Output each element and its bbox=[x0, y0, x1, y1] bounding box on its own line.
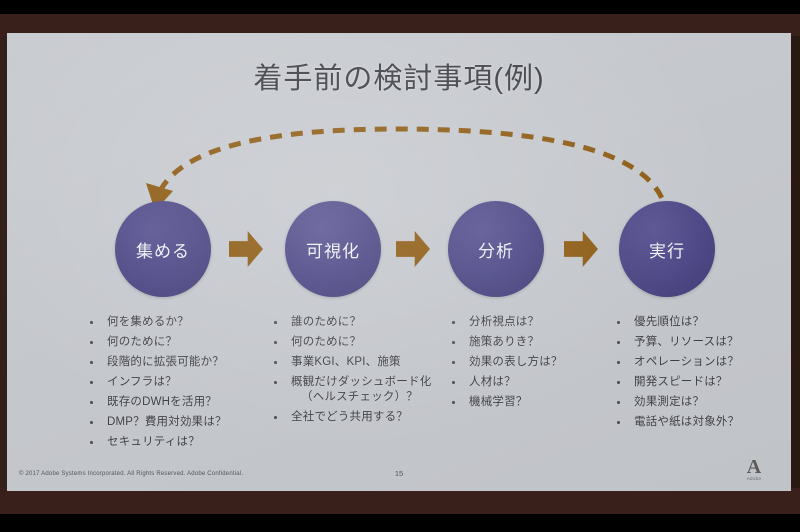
list-item: 何を集めるか？ bbox=[85, 315, 275, 330]
bullet-text: オペレーションは？ bbox=[634, 356, 739, 368]
stage-row: 集める 可視化 分析 実行 bbox=[7, 201, 791, 301]
list-item: 分析視点は？ bbox=[447, 315, 617, 330]
list-item: 全社でどう共用する？ bbox=[269, 410, 451, 425]
stage-circle-analyze[interactable]: 分析 bbox=[448, 201, 544, 297]
adobe-a-mark: A bbox=[741, 459, 767, 476]
list-item: 人材は？ bbox=[447, 375, 617, 390]
stage-label: 分析 bbox=[478, 237, 514, 262]
list-item: 機械学習？ bbox=[447, 395, 617, 410]
screen-frame-left bbox=[0, 14, 7, 514]
list-item: 開発スピードは？ bbox=[612, 375, 790, 390]
stage-circle-collect[interactable]: 集める bbox=[115, 201, 211, 297]
bullet-text: 効果の表し方は？ bbox=[469, 356, 563, 368]
list-item: 段階的に拡張可能か？ bbox=[85, 355, 275, 370]
bullet-text-continuation: （ヘルスチェック）？ bbox=[291, 390, 451, 405]
list-item: インフラは？ bbox=[85, 375, 275, 390]
bullet-text: 何を集めるか？ bbox=[107, 316, 189, 328]
list-item: 事業KGI、KPI、施策 bbox=[269, 355, 451, 370]
list-item: 効果の表し方は？ bbox=[447, 355, 617, 370]
list-item: 誰のために？ bbox=[269, 315, 451, 330]
bullet-text: 開発スピードは？ bbox=[634, 376, 728, 388]
stage-arrow-3 bbox=[564, 231, 598, 267]
list-item: オペレーションは？ bbox=[612, 355, 790, 370]
bullet-column-analyze: 分析視点は？ 施策ありき？ 効果の表し方は？ 人材は？ 機械学習？ bbox=[447, 315, 617, 415]
list-item: 効果測定は？ bbox=[612, 395, 790, 410]
bullet-text: 既存のDWHを活用？ bbox=[107, 396, 217, 408]
bullet-text: 人材は？ bbox=[469, 376, 516, 388]
bullet-text: インフラは？ bbox=[107, 376, 177, 388]
bullet-text: 何のために？ bbox=[291, 336, 361, 348]
adobe-wordmark: Adobe bbox=[741, 476, 767, 481]
bullet-text: 事業KGI、KPI、施策 bbox=[291, 356, 401, 368]
projected-slide-photo: 着手前の検討事項(例) 集める 可視化 分析 実行 何を集め bbox=[0, 0, 800, 532]
bullet-text: 予算、リソースは？ bbox=[634, 336, 739, 348]
list-item: 既存のDWHを活用？ bbox=[85, 395, 275, 410]
stage-arrow-1 bbox=[229, 231, 263, 267]
list-item: 予算、リソースは？ bbox=[612, 335, 790, 350]
adobe-logo: A Adobe bbox=[741, 459, 767, 481]
stage-circle-visualize[interactable]: 可視化 bbox=[285, 201, 381, 297]
slide-canvas: 着手前の検討事項(例) 集める 可視化 分析 実行 何を集め bbox=[7, 33, 791, 491]
list-item: DMP？費用対効果は？ bbox=[85, 415, 275, 430]
stage-arrow-2 bbox=[396, 231, 430, 267]
bullet-text: 段階的に拡張可能か？ bbox=[107, 356, 224, 368]
bullet-text: 全社でどう共用する？ bbox=[291, 411, 408, 423]
bullet-text: 効果測定は？ bbox=[634, 396, 704, 408]
bullet-text: 分析視点は？ bbox=[469, 316, 539, 328]
bullet-column-execute: 優先順位は？ 予算、リソースは？ オペレーションは？ 開発スピードは？ 効果測定… bbox=[612, 315, 790, 435]
bullet-text: 機械学習？ bbox=[469, 396, 528, 408]
bullet-text: セキュリティは？ bbox=[107, 436, 200, 448]
bullet-text: 何のために？ bbox=[107, 336, 177, 348]
list-item: 概観だけダッシュボード化 （ヘルスチェック）？ bbox=[269, 375, 451, 405]
bullet-text: 施策ありき？ bbox=[469, 336, 539, 348]
screen-frame-right bbox=[791, 14, 800, 514]
bullet-text: DMP？費用対効果は？ bbox=[107, 416, 227, 428]
list-item: セキュリティは？ bbox=[85, 435, 275, 450]
screen-frame-bottom bbox=[0, 488, 800, 514]
list-item: 何のために？ bbox=[269, 335, 451, 350]
bullet-columns: 何を集めるか？ 何のために？ 段階的に拡張可能か？ インフラは？ 既存のDWHを… bbox=[7, 315, 791, 455]
bullet-text: 電話や紙は対象外？ bbox=[634, 416, 739, 428]
list-item: 施策ありき？ bbox=[447, 335, 617, 350]
list-item: 何のために？ bbox=[85, 335, 275, 350]
stage-circle-execute[interactable]: 実行 bbox=[619, 201, 715, 297]
stage-label: 集める bbox=[136, 237, 190, 262]
bullet-column-collect: 何を集めるか？ 何のために？ 段階的に拡張可能か？ インフラは？ 既存のDWHを… bbox=[85, 315, 275, 455]
bullet-column-visualize: 誰のために？ 何のために？ 事業KGI、KPI、施策 概観だけダッシュボード化 … bbox=[269, 315, 451, 430]
list-item: 電話や紙は対象外？ bbox=[612, 415, 790, 430]
bullet-text: 概観だけダッシュボード化 bbox=[291, 376, 431, 388]
bullet-text: 優先順位は？ bbox=[634, 316, 704, 328]
bullet-text: 誰のために？ bbox=[291, 316, 361, 328]
stage-label: 可視化 bbox=[306, 237, 360, 262]
stage-label: 実行 bbox=[649, 237, 685, 262]
list-item: 優先順位は？ bbox=[612, 315, 790, 330]
page-number: 15 bbox=[7, 469, 791, 478]
